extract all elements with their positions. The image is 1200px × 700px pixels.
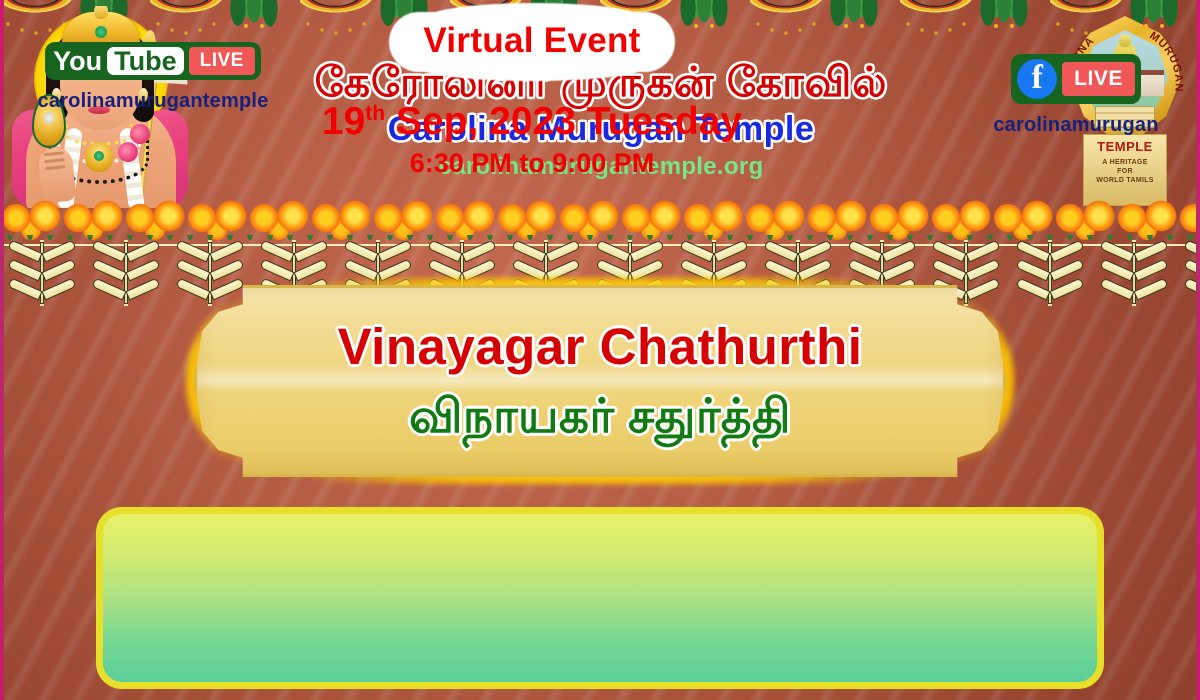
- palm-frond-icon: [1092, 240, 1176, 306]
- youtube-tube-text: Tube: [107, 47, 184, 75]
- rose-flower-a: [130, 124, 150, 144]
- palm-frond-icon: [1008, 240, 1092, 306]
- facebook-handle: carolinamurugan: [968, 114, 1184, 137]
- logo-base-line2: FOR: [1084, 167, 1166, 176]
- frond-leaflet: [41, 278, 76, 301]
- event-info-box: [96, 507, 1104, 689]
- frond-leaflet: [1133, 278, 1168, 301]
- youtube-handle: carolinamurugantemple: [22, 90, 284, 113]
- facebook-block[interactable]: f LIVE carolinamurugan: [968, 54, 1184, 137]
- youtube-you-text: You: [51, 47, 104, 75]
- frond-leaflet: [125, 278, 160, 301]
- logo-base-tagline: A HERITAGE FOR WORLD TAMILS: [1084, 158, 1166, 185]
- event-date: 19th Sep, 2023 Tuesday: [296, 90, 768, 146]
- facebook-f-glyph: f: [1017, 61, 1057, 95]
- youtube-live-badge-icon[interactable]: You Tube LIVE: [45, 42, 261, 80]
- rose-flower-b: [118, 142, 138, 162]
- palm-frond-icon: [84, 240, 168, 306]
- event-time: 6:30 PM to 9:00 PM: [296, 147, 768, 179]
- youtube-live-label: LIVE: [189, 47, 255, 75]
- logo-base-title: TEMPLE: [1084, 139, 1166, 154]
- event-title-tamil: விநாயகர் சதுர்த்தி: [204, 387, 996, 445]
- event-date-suffix: th: [365, 102, 385, 125]
- virtual-event-badge: Virtual Event: [389, 12, 674, 72]
- frond-leaflet: [1049, 278, 1084, 301]
- event-date-day: 19: [322, 100, 365, 143]
- event-banner: முருகா சரணம் கேரோலினா முருகன் கோவில் Car…: [0, 0, 1200, 700]
- facebook-live-badge-icon[interactable]: f LIVE: [1011, 54, 1141, 104]
- logo-base-line3: WORLD TAMILS: [1084, 176, 1166, 185]
- facebook-live-label: LIVE: [1062, 62, 1135, 96]
- youtube-logo-icon: You Tube: [51, 47, 184, 75]
- event-details-block: Virtual Event 19th Sep, 2023 Tuesday 6:3…: [296, 12, 768, 179]
- crown-jewel: [95, 26, 107, 38]
- left-edge-strip: [0, 0, 4, 700]
- palm-frond-icon: [0, 240, 84, 306]
- youtube-block[interactable]: You Tube LIVE carolinamurugantemple: [22, 42, 284, 113]
- deity-pendant: [85, 142, 113, 172]
- marigold-garland-icon: [0, 196, 1200, 244]
- event-date-rest: Sep, 2023 Tuesday: [385, 100, 742, 143]
- event-title: Vinayagar Chathurthi: [204, 317, 996, 377]
- logo-base-line1: A HERITAGE: [1084, 158, 1166, 167]
- right-edge-strip: [1196, 0, 1200, 700]
- facebook-logo-icon: f: [1017, 59, 1057, 99]
- title-panel-content: Vinayagar Chathurthi விநாயகர் சதுர்த்தி: [204, 293, 996, 469]
- virtual-event-label: Virtual Event: [423, 21, 640, 60]
